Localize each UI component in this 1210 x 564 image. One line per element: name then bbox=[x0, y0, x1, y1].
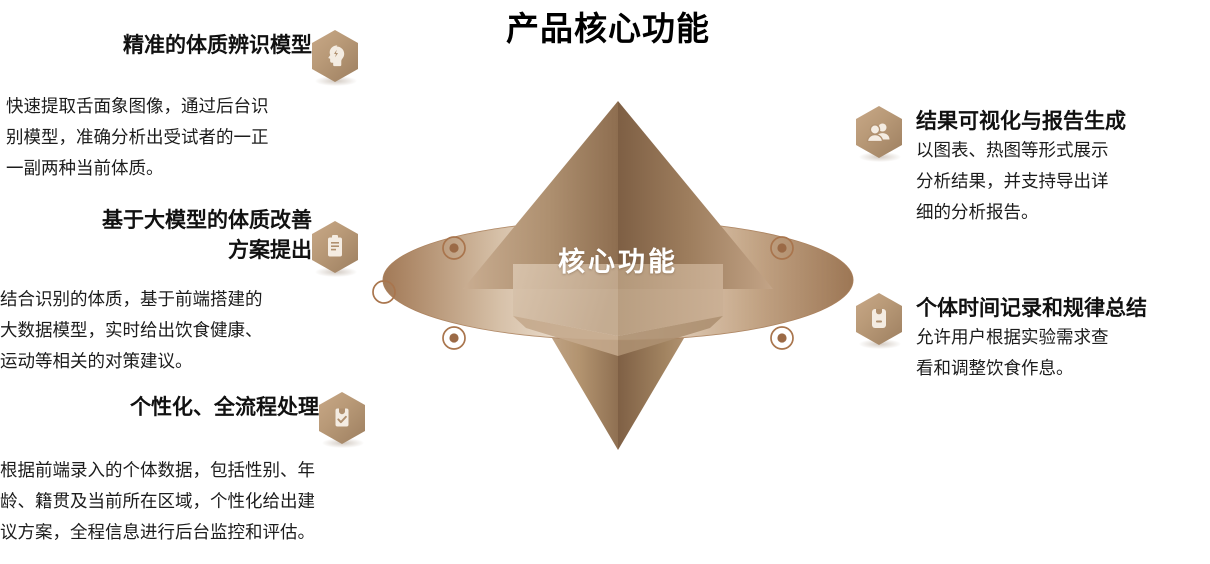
feature-title: 个性化、全流程处理 bbox=[130, 392, 319, 422]
feature-block-left-2: 基于大模型的体质改善 方案提出 结合识别的体质，基于前端搭建的 大数据模型，实时… bbox=[0, 205, 358, 378]
feature-title: 个体时间记录和规律总结 bbox=[916, 293, 1147, 323]
feature-body: 快速提取舌面象图像，通过后台识 别模型，准确分析出受试者的一正 一副两种当前体质… bbox=[6, 92, 358, 185]
marker-lower-right bbox=[771, 327, 793, 349]
feature-body: 根据前端录入的个体数据，包括性别、年 龄、籍贯及当前所在区域，个性化给出建 议方… bbox=[0, 456, 365, 549]
feature-block-left-1: 精准的体质辨识模型 快速提取舌面象图像，通过后台识 别模型，准确分析出受试者的一… bbox=[6, 30, 358, 185]
clipboard-document-icon bbox=[312, 221, 358, 281]
upper-cone bbox=[463, 101, 773, 289]
feature-title: 结果可视化与报告生成 bbox=[916, 106, 1126, 136]
feature-header: 精准的体质辨识模型 bbox=[6, 30, 358, 90]
marker-lower-left bbox=[443, 327, 465, 349]
feature-block-right-1: 结果可视化与报告生成 以图表、热图等形式展示 分析结果，并支持导出详 细的分析报… bbox=[856, 106, 1206, 229]
feature-header: 个性化、全流程处理 bbox=[0, 392, 365, 452]
users-group-icon bbox=[856, 106, 902, 166]
feature-header: 基于大模型的体质改善 方案提出 bbox=[0, 205, 358, 281]
feature-title: 基于大模型的体质改善 方案提出 bbox=[102, 205, 312, 265]
feature-body: 结合识别的体质，基于前端搭建的 大数据模型，实时给出饮食健康、 运动等相关的对策… bbox=[0, 285, 358, 378]
feature-body: 允许用户根据实验需求查 看和调整饮食作息。 bbox=[916, 323, 1147, 385]
center-chevron bbox=[513, 264, 723, 356]
feature-header: 个体时间记录和规律总结 允许用户根据实验需求查 看和调整饮食作息。 bbox=[856, 293, 1206, 385]
feature-header: 结果可视化与报告生成 以图表、热图等形式展示 分析结果，并支持导出详 细的分析报… bbox=[856, 106, 1206, 229]
feature-title: 精准的体质辨识模型 bbox=[123, 30, 312, 60]
record-card-icon bbox=[856, 293, 902, 353]
brain-head-bolt-icon bbox=[312, 30, 358, 90]
feature-block-right-2: 个体时间记录和规律总结 允许用户根据实验需求查 看和调整饮食作息。 bbox=[856, 293, 1206, 385]
core-function-diagram bbox=[368, 84, 868, 454]
feature-block-left-3: 个性化、全流程处理 根据前端录入的个体数据，包括性别、年 龄、籍贯及当前所在区域… bbox=[0, 392, 365, 549]
document-check-icon bbox=[319, 392, 365, 452]
feature-body: 以图表、热图等形式展示 分析结果，并支持导出详 细的分析报告。 bbox=[916, 136, 1126, 229]
